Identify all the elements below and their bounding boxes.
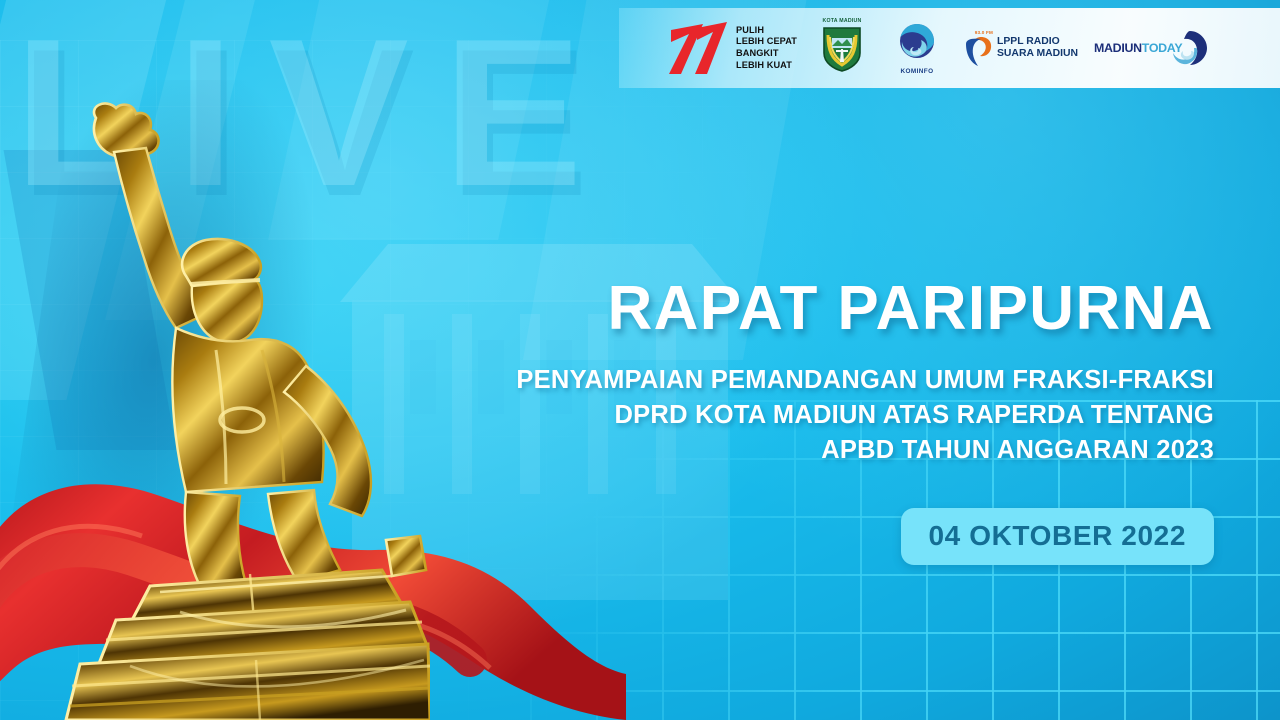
page-subtitle: PENYAMPAIAN PEMANDANGAN UMUM FRAKSI-FRAK… bbox=[494, 363, 1214, 469]
subtitle-line-3: APBD TAHUN ANGGARAN 2023 bbox=[494, 433, 1214, 468]
kominfo-logo: KOMINFO bbox=[887, 22, 947, 75]
lppl-radio-suara-madiun-logo: 93.0 FM LPPL RADIO SUARA MADIUN bbox=[963, 30, 1078, 67]
77-tagline: PULIH LEBIH CEPAT BANGKIT LEBIH KUAT bbox=[736, 25, 797, 71]
kota-madiun-crest: KOTA MADIUN bbox=[813, 18, 871, 78]
golden-warrior-statue bbox=[10, 100, 430, 720]
madiun-today-swoosh-icon bbox=[1172, 30, 1208, 66]
kominfo-globe-icon bbox=[896, 22, 938, 62]
77-numeral-icon bbox=[667, 20, 729, 76]
lppl-swoosh-icon bbox=[963, 35, 993, 67]
broadcast-lower-third-slate: LIVE bbox=[0, 0, 1280, 720]
headline-block: RAPAT PARIPURNA PENYAMPAIAN PEMANDANGAN … bbox=[494, 276, 1214, 469]
kominfo-caption: KOMINFO bbox=[887, 68, 947, 75]
madiun-today-logo: MADIUNTODAY bbox=[1094, 30, 1208, 66]
subtitle-line-1: PENYAMPAIAN PEMANDANGAN UMUM FRAKSI-FRAK… bbox=[494, 363, 1214, 398]
page-title: RAPAT PARIPURNA bbox=[494, 276, 1214, 341]
madiun-today-wordmark: MADIUNTODAY bbox=[1094, 41, 1182, 55]
subtitle-line-2: DPRD KOTA MADIUN ATAS RAPERDA TENTANG bbox=[494, 398, 1214, 433]
event-date-badge: 04 OKTOBER 2022 bbox=[901, 508, 1215, 565]
77-indonesia-logo: PULIH LEBIH CEPAT BANGKIT LEBIH KUAT bbox=[667, 20, 797, 76]
lppl-wordmark: LPPL RADIO SUARA MADIUN bbox=[997, 36, 1078, 59]
shield-icon bbox=[822, 25, 862, 73]
monument-artwork bbox=[0, 40, 450, 720]
crest-caption: KOTA MADIUN bbox=[813, 18, 871, 24]
sponsor-logo-bar: PULIH LEBIH CEPAT BANGKIT LEBIH KUAT KOT… bbox=[619, 8, 1280, 88]
